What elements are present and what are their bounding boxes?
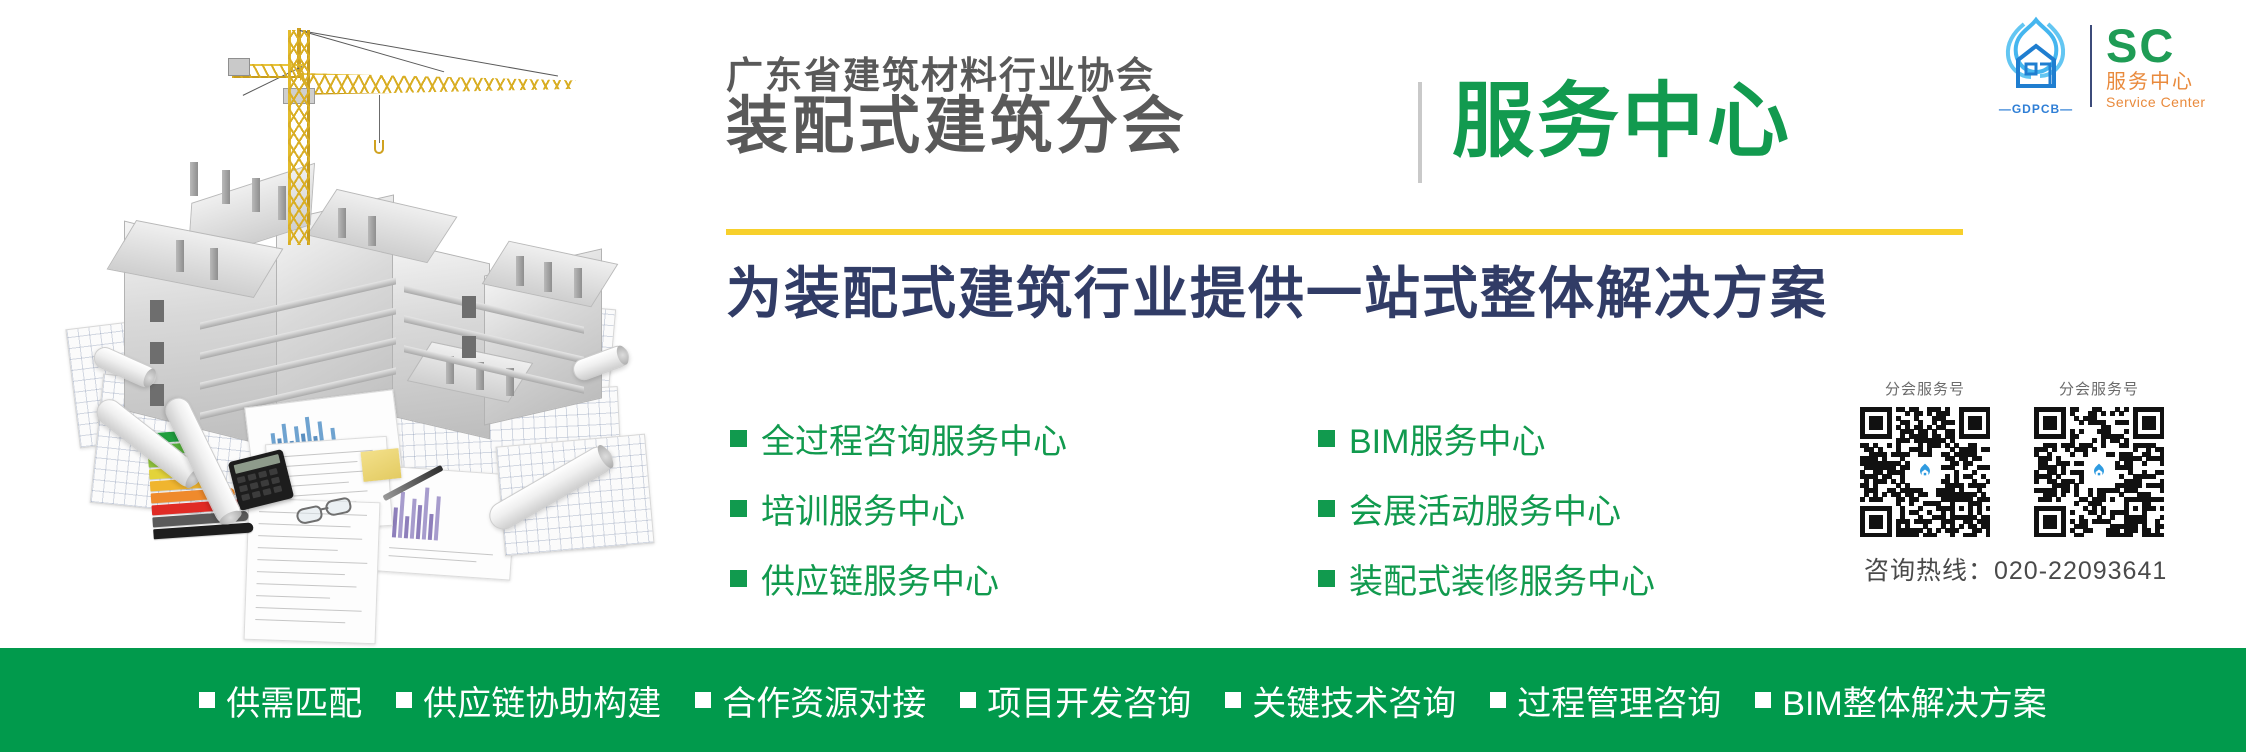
yellow-divider-rule [726, 229, 1963, 235]
hotline-text: 咨询热线：020-22093641 [1860, 551, 2220, 587]
square-bullet-icon [1225, 692, 1241, 708]
brand-abbreviation: —GDPCB— [1988, 102, 2084, 116]
qr-code-area: 分会服务号 分会服务号 [1860, 378, 2220, 587]
square-bullet-icon [1755, 692, 1771, 708]
sticky-note [361, 448, 402, 482]
brand-vertical-divider [2090, 25, 2092, 107]
square-bullet-icon [1490, 692, 1506, 708]
rebar-column [544, 262, 552, 292]
rebar-column [252, 178, 260, 212]
marketing-banner: 3D render of a multi-storey reinforced-c… [0, 0, 2246, 752]
bottom-bar-item-label: 供应链协助构建 [423, 676, 661, 725]
facade-window [150, 384, 164, 406]
brand-text-group: SC 服务中心 Service Center [2106, 22, 2206, 110]
square-bullet-icon [396, 692, 412, 708]
gdpcb-logo-icon [1910, 457, 1940, 487]
rebar-column [574, 268, 582, 298]
service-item[interactable]: 全过程咨询服务中心 [730, 412, 1067, 464]
service-list-right: BIM服务中心 会展活动服务中心 装配式装修服务中心 [1318, 412, 1655, 622]
bottom-bar-item[interactable]: 合作资源对接 [695, 676, 926, 725]
bottom-bar-item[interactable]: 项目开发咨询 [960, 676, 1191, 725]
bottom-bar-item[interactable]: 过程管理咨询 [1490, 676, 1721, 725]
brand-name-cn: 服务中心 [2106, 70, 2206, 94]
service-item[interactable]: BIM服务中心 [1318, 412, 1655, 464]
qr-label: 分会服务号 [2034, 378, 2164, 399]
tagline: 为装配式建筑行业提供一站式整体解决方案 [726, 258, 1828, 330]
crane-tie-cable [300, 30, 558, 76]
hero-construction-illustration: 3D render of a multi-storey reinforced-c… [0, 0, 690, 650]
bottom-bar-item[interactable]: 供需匹配 [199, 676, 362, 725]
square-bullet-icon [730, 430, 747, 447]
bottom-bar-item[interactable]: 供应链协助构建 [396, 676, 661, 725]
service-item[interactable]: 会展活动服务中心 [1318, 482, 1655, 534]
facade-window [462, 296, 476, 318]
square-bullet-icon [199, 692, 215, 708]
rebar-column [278, 186, 286, 220]
bottom-bar-item-label: 合作资源对接 [722, 676, 926, 725]
rebar-column [516, 256, 524, 286]
square-bullet-icon [730, 570, 747, 587]
square-bullet-icon [1318, 430, 1335, 447]
qr-label: 分会服务号 [1860, 378, 1990, 399]
rebar-column [176, 240, 184, 272]
bottom-bar-item-label: 项目开发咨询 [987, 676, 1191, 725]
bottom-bar-item[interactable]: 关键技术咨询 [1225, 676, 1456, 725]
bottom-bar-item-label: 供需匹配 [226, 676, 362, 725]
service-item-label: 供应链服务中心 [761, 554, 999, 603]
qr-code-2[interactable] [2034, 407, 2164, 537]
square-bullet-icon [1318, 570, 1335, 587]
service-item-label: 全过程咨询服务中心 [761, 414, 1067, 463]
qr-code-1[interactable] [1860, 407, 1990, 537]
service-item[interactable]: 供应链服务中心 [730, 552, 1067, 604]
crane-mast [288, 30, 310, 245]
branch-name: 装配式建筑分会 [726, 88, 1188, 166]
square-bullet-icon [1318, 500, 1335, 517]
header-vertical-divider [1418, 82, 1422, 183]
service-list-left: 全过程咨询服务中心 培训服务中心 供应链服务中心 [730, 412, 1067, 622]
facade-window [462, 336, 476, 358]
facade-window [150, 342, 164, 364]
square-bullet-icon [695, 692, 711, 708]
facade-window [150, 300, 164, 322]
rebar-column [190, 162, 198, 196]
brand-lockup: —GDPCB— SC 服务中心 Service Center [1988, 14, 2232, 118]
service-item-label: 培训服务中心 [761, 484, 965, 533]
brand-sc-initials: SC [2106, 24, 2206, 68]
service-item-label: BIM服务中心 [1349, 414, 1545, 463]
rebar-column [210, 248, 218, 280]
service-item[interactable]: 装配式装修服务中心 [1318, 552, 1655, 604]
qr-block: 分会服务号 [1860, 378, 1990, 537]
gdpcb-logo-icon [2084, 457, 2114, 487]
brand-name-en: Service Center [2106, 94, 2206, 110]
crane-hoist-line [379, 95, 380, 143]
qr-block: 分会服务号 [2034, 378, 2164, 537]
service-center-title: 服务中心 [1452, 72, 1792, 172]
rebar-column [338, 208, 346, 238]
rebar-column [368, 216, 376, 246]
bottom-bar-item-label: 过程管理咨询 [1517, 676, 1721, 725]
bottom-service-bar: 供需匹配 供应链协助构建 合作资源对接 项目开发咨询 关键技术咨询 过程管理咨询… [0, 648, 2246, 752]
bottom-bar-item-label: 关键技术咨询 [1252, 676, 1456, 725]
crane-hook [374, 140, 384, 154]
rebar-column [222, 170, 230, 204]
service-item[interactable]: 培训服务中心 [730, 482, 1067, 534]
square-bullet-icon [960, 692, 976, 708]
bottom-bar-item[interactable]: BIM整体解决方案 [1755, 676, 2046, 725]
crane-counterweight [228, 58, 250, 76]
service-item-label: 会展活动服务中心 [1349, 484, 1621, 533]
square-bullet-icon [730, 500, 747, 517]
bottom-bar-item-label: BIM整体解决方案 [1782, 676, 2046, 725]
gdpcb-house-flame-logo: —GDPCB— [1988, 16, 2084, 116]
crane-jib [300, 73, 576, 95]
service-item-label: 装配式装修服务中心 [1349, 554, 1655, 603]
